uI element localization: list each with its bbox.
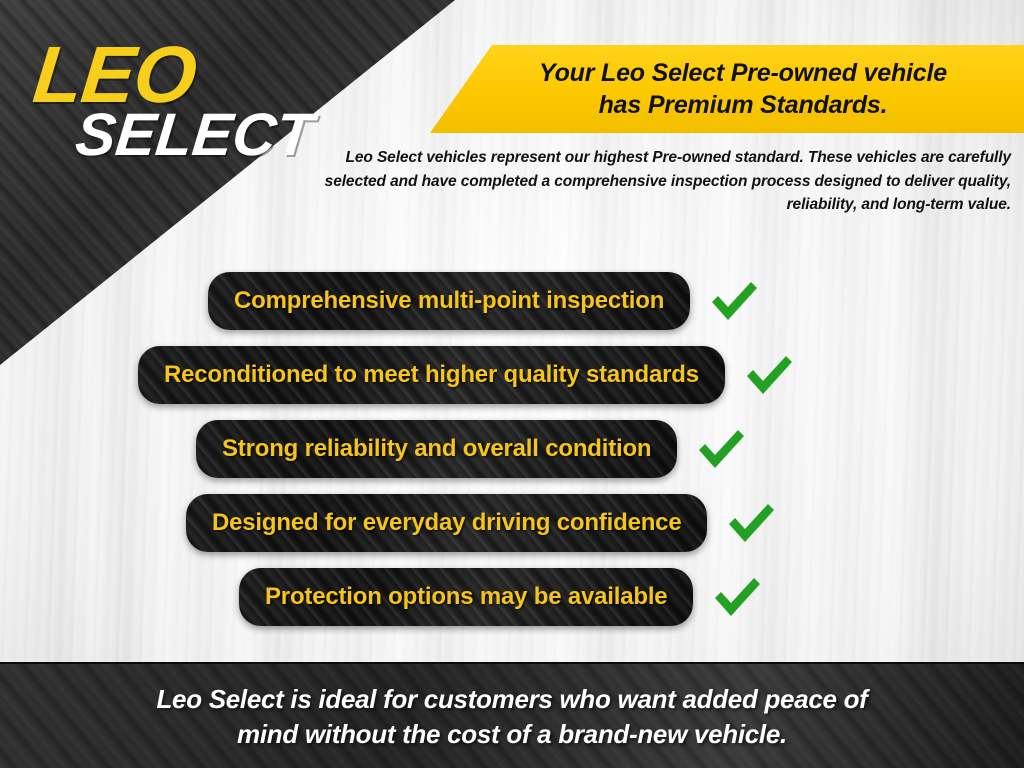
feature-label: Designed for everyday driving confidence [212,509,681,537]
headline-line-2: has Premium Standards. [539,89,947,121]
footer-line-1: Leo Select is ideal for customers who wa… [156,682,867,717]
leo-select-promo-poster: LEO SELECT Your Leo Select Pre-owned veh… [0,0,1024,768]
green-check-icon [695,425,747,473]
feature-pill: Protection options may be available [239,568,693,626]
intro-paragraph: Leo Select vehicles represent our highes… [305,146,1011,217]
green-check-icon [725,499,777,547]
feature-pill: Strong reliability and overall condition [196,420,677,478]
headline-line-1: Your Leo Select Pre-owned vehicle [539,57,947,89]
footer-banner: Leo Select is ideal for customers who wa… [0,662,1024,768]
feature-row: Strong reliability and overall condition [196,420,747,478]
feature-label: Reconditioned to meet higher quality sta… [164,361,699,389]
feature-label: Protection options may be available [265,583,667,611]
headline-banner: Your Leo Select Pre-owned vehicle has Pr… [430,45,1024,133]
headline-text: Your Leo Select Pre-owned vehicle has Pr… [499,57,955,121]
logo-word-leo: LEO [31,42,368,108]
feature-pill: Comprehensive multi-point inspection [208,272,690,330]
feature-row: Designed for everyday driving confidence [186,494,777,552]
footer-text: Leo Select is ideal for customers who wa… [96,682,927,752]
footer-line-2: mind without the cost of a brand-new veh… [156,717,867,752]
feature-pill: Designed for everyday driving confidence [186,494,707,552]
feature-list: Comprehensive multi-point inspection Rec… [0,266,1024,656]
feature-row: Reconditioned to meet higher quality sta… [138,346,795,404]
feature-row: Protection options may be available [239,568,763,626]
green-check-icon [708,277,760,325]
feature-row: Comprehensive multi-point inspection [208,272,760,330]
feature-pill: Reconditioned to meet higher quality sta… [138,346,725,404]
green-check-icon [743,351,795,399]
feature-label: Comprehensive multi-point inspection [234,287,664,315]
brand-logo: LEO SELECT [34,42,364,159]
green-check-icon [711,573,763,621]
feature-label: Strong reliability and overall condition [222,435,651,463]
